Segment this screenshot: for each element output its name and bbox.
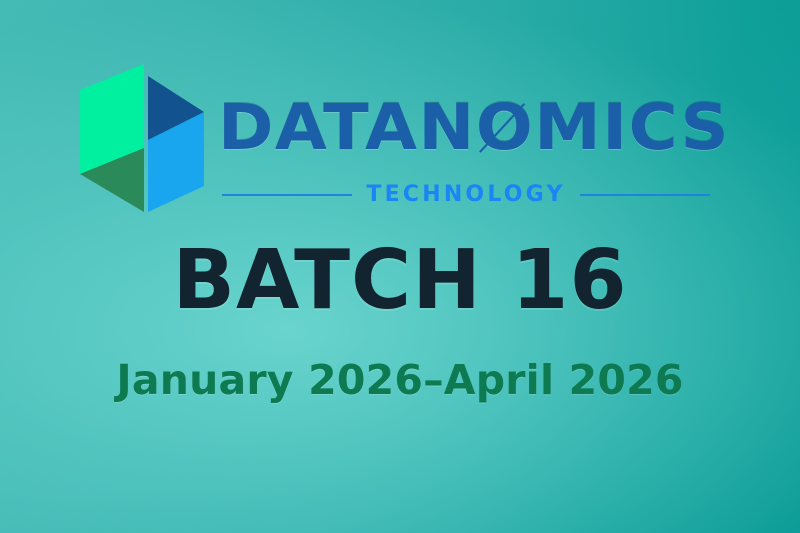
wordmark-slashed-o: O [476, 96, 534, 159]
title-slide: DATANOMICS TECHNOLOGY BATCH 16 January 2… [0, 0, 800, 533]
page-title: BATCH 16 [0, 240, 800, 322]
date-range-subtitle: January 2026–April 2026 [0, 360, 800, 401]
wordmark-segment-1: DATAN [218, 91, 476, 164]
wordmark-o-letter: O [476, 91, 534, 164]
tagline-label: TECHNOLOGY [366, 182, 565, 207]
wordmark-segment-2: MICS [534, 91, 730, 164]
brand-wordmark-block: DATANOMICS [218, 96, 718, 159]
tagline-rule-right [580, 194, 710, 196]
tagline-strip: TECHNOLOGY [222, 182, 710, 207]
brand-wordmark: DATANOMICS [218, 96, 748, 159]
datanomics-cube-logo-icon [72, 56, 212, 216]
tagline-rule-left [222, 194, 352, 196]
